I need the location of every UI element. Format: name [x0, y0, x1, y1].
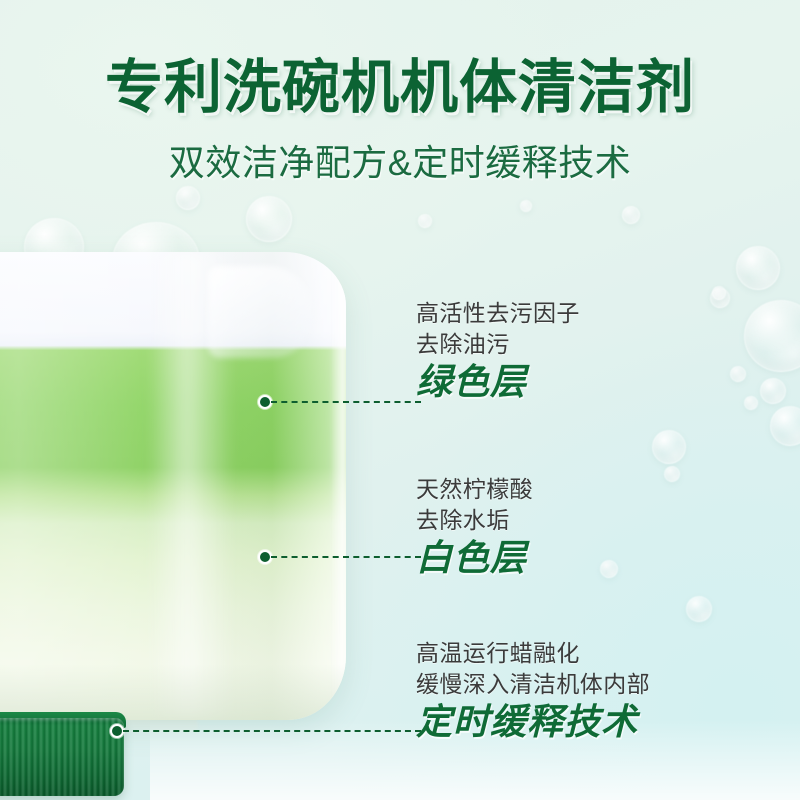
- bottle-top-highlight: [208, 266, 312, 358]
- callout-line-2: 缓慢深入清洁机体内部: [416, 669, 650, 700]
- bubble: [730, 366, 746, 382]
- callout-line-1: 高温运行蜡融化: [416, 638, 650, 669]
- bubble: [652, 430, 686, 464]
- bottle-cap: [0, 718, 124, 796]
- callout-green-layer: 高活性去污因子 去除油污 绿色层: [416, 298, 580, 404]
- connector-dashed-line: [123, 730, 421, 732]
- bubble: [246, 196, 292, 242]
- callout-line-1: 天然柠檬酸: [416, 474, 533, 505]
- connector-dot-icon: [110, 724, 124, 738]
- bubble: [686, 596, 712, 622]
- callout-white-layer: 天然柠檬酸 去除水垢 白色层: [416, 474, 533, 580]
- callout-line-2: 去除油污: [416, 329, 580, 360]
- bottle-right-edge: [332, 252, 346, 720]
- product-bottle: [0, 252, 346, 720]
- bubble: [622, 206, 640, 224]
- bubble: [744, 300, 800, 372]
- bubble: [600, 560, 618, 578]
- connector-dot-icon: [258, 395, 272, 409]
- callout-timed-release: 高温运行蜡融化 缓慢深入清洁机体内部 定时缓释技术: [416, 638, 650, 744]
- bubble: [418, 214, 432, 228]
- connector-dashed-line: [271, 401, 421, 403]
- bubble: [770, 406, 800, 446]
- callout-line-2: 去除水垢: [416, 505, 533, 536]
- product-poster: 专利洗碗机机体清洁剂 双效洁净配方&定时缓释技术 高活性去污因子 去除油污 绿色…: [0, 0, 800, 800]
- connector-dashed-line: [271, 556, 421, 558]
- bubble: [176, 186, 200, 210]
- bubble: [736, 246, 780, 290]
- callout-emphasis: 白色层: [416, 536, 533, 580]
- bubble: [710, 288, 730, 308]
- connector-dot-icon: [258, 550, 272, 564]
- page-subtitle: 双效洁净配方&定时缓释技术: [0, 134, 800, 186]
- bubble: [520, 200, 532, 212]
- callout-emphasis: 定时缓释技术: [416, 700, 650, 744]
- callout-emphasis: 绿色层: [416, 360, 580, 404]
- bubble: [664, 466, 680, 482]
- page-title: 专利洗碗机机体清洁剂: [0, 40, 800, 124]
- bubble: [760, 378, 786, 404]
- bubble: [744, 396, 758, 410]
- callout-line-1: 高活性去污因子: [416, 298, 580, 329]
- bubble: [712, 286, 726, 300]
